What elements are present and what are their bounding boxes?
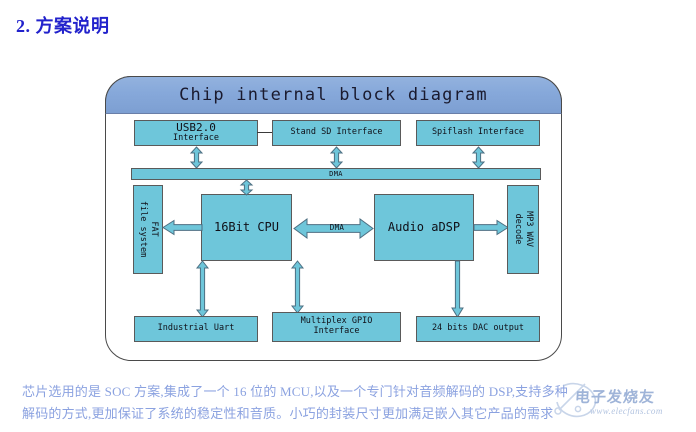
dma-bus-bar: DMA xyxy=(131,168,541,180)
block-gpio-line2: Interface xyxy=(301,327,373,337)
block-mp3-line2: decode xyxy=(513,214,523,245)
block-24bits-dac-output: 24 bits DAC output xyxy=(416,316,540,342)
block-usb-label: Interface xyxy=(173,133,219,143)
block-mp3-wav-decode: MP3 WAV decode xyxy=(507,185,539,274)
block-mp3-line1: MP3 WAV xyxy=(524,212,534,248)
arrow-adsp-to-dac xyxy=(451,261,464,317)
block-fat-line2: file system xyxy=(138,201,148,257)
block-usb-interface: USB2.0 Interface xyxy=(134,120,258,146)
arrow-cpu-to-uart xyxy=(196,261,209,317)
dma-interconnect-label: DMA xyxy=(317,223,357,232)
block-audio-adsp: Audio aDSP xyxy=(374,194,474,261)
block-16bit-cpu: 16Bit CPU xyxy=(201,194,292,261)
body-paragraph: 芯片选用的是 SOC 方案,集成了一个 16 位的 MCU,以及一个专门针对音频… xyxy=(22,381,682,425)
body-paragraph-line-1: 芯片选用的是 SOC 方案,集成了一个 16 位的 MCU,以及一个专门针对音频… xyxy=(22,381,682,403)
body-paragraph-line-2: 解码的方式,更加保证了系统的稳定性和音质。小巧的封装尺寸更加满足嵌入其它产品的需… xyxy=(22,403,682,425)
slide-page: 2. 方案说明 Chip internal block diagram USB2… xyxy=(0,0,696,432)
arrow-sd-dma xyxy=(330,147,343,168)
arrow-spiflash-dma xyxy=(472,147,485,168)
block-multiplex-gpio-interface: Multiplex GPIO Interface xyxy=(272,312,401,342)
block-stand-sd-interface: Stand SD Interface xyxy=(272,120,401,146)
block-adsp-label: Audio aDSP xyxy=(388,221,460,235)
block-sd-label: Stand SD Interface xyxy=(290,128,382,138)
block-fat-line1: FAT xyxy=(149,222,159,237)
block-industrial-uart: Industrial Uart xyxy=(134,316,258,342)
arrow-cpu-dma-bus xyxy=(240,180,253,195)
dma-bus-label: DMA xyxy=(329,170,343,178)
section-heading: 2. 方案说明 xyxy=(16,12,110,38)
block-dac-label: 24 bits DAC output xyxy=(432,324,524,334)
block-spiflash-interface: Spiflash Interface xyxy=(416,120,540,146)
arrow-usb-dma xyxy=(190,147,203,168)
block-cpu-label: 16Bit CPU xyxy=(214,221,279,235)
block-uart-label: Industrial Uart xyxy=(158,324,235,334)
connector-usb-to-sd xyxy=(257,132,273,133)
block-fat-file-system: FAT file system xyxy=(133,185,163,274)
arrow-adsp-to-mp3 xyxy=(474,220,508,235)
arrow-cpu-to-fat xyxy=(163,220,202,235)
block-spiflash-label: Spiflash Interface xyxy=(432,128,524,138)
arrow-cpu-to-gpio xyxy=(291,261,304,313)
diagram-title: Chip internal block diagram xyxy=(105,76,562,114)
